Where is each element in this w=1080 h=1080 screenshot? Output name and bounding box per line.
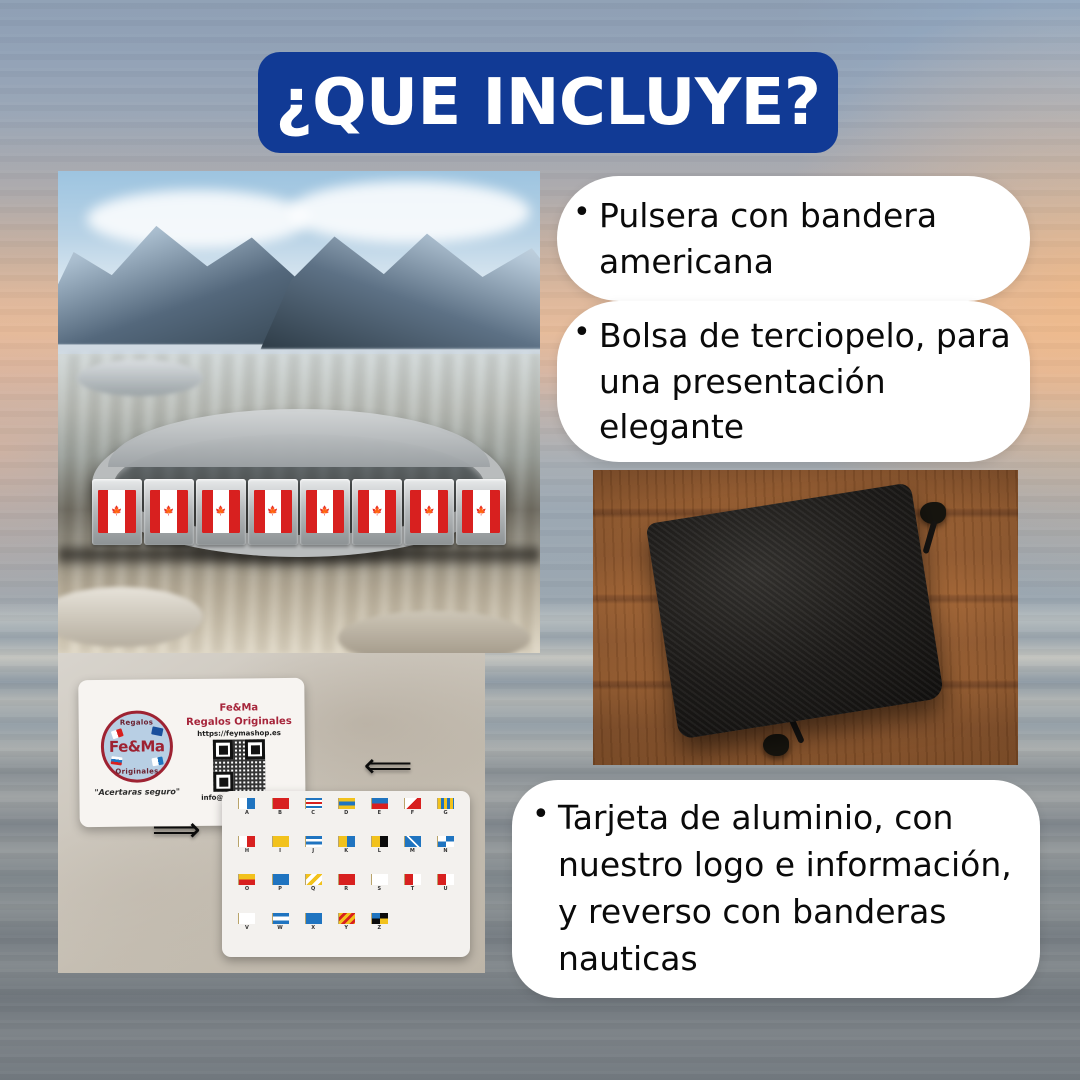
nautical-flag-cell: E xyxy=(364,798,395,835)
nautical-flag-cell: R xyxy=(331,874,362,911)
nautical-flag-letter: K xyxy=(344,848,348,854)
nautical-flag-cell: Y xyxy=(331,913,362,950)
nautical-flag-k-icon xyxy=(338,836,355,847)
bracelet-link: 🍁 xyxy=(300,479,350,546)
nautical-flag-letter: Q xyxy=(311,886,315,892)
canada-flag-tile: 🍁 xyxy=(98,490,136,533)
nautical-flag-letter: J xyxy=(312,848,314,854)
nautical-flag-g-icon xyxy=(437,798,454,809)
nautical-flag-cell: Q xyxy=(298,874,329,911)
nautical-flag-letter: Z xyxy=(378,925,382,931)
bracelet-link: 🍁 xyxy=(92,479,142,546)
nautical-flag-letter: V xyxy=(245,925,249,931)
nautical-flag-d-icon xyxy=(338,798,355,809)
nautical-flag-cell: I xyxy=(265,836,296,873)
nautical-flag-v-icon xyxy=(238,913,255,924)
drawstring-knot-bottom xyxy=(763,734,789,756)
feature-item: Bolsa de terciopelo, para una presentaci… xyxy=(599,313,1030,450)
nautical-flag-cell: V xyxy=(231,913,262,950)
nautical-flag-letter: W xyxy=(277,925,283,931)
canada-flag-tile: 🍁 xyxy=(254,490,292,533)
qr-code xyxy=(213,739,266,792)
nautical-flag-letter: P xyxy=(278,886,282,892)
nautical-flag-cell: G xyxy=(430,798,461,835)
bracelet-back-links xyxy=(108,409,489,467)
nautical-flag-letter: F xyxy=(411,810,414,816)
nautical-flag-cell: N xyxy=(430,836,461,873)
nautical-flag-s-icon xyxy=(371,874,388,885)
bracelet-link: 🍁 xyxy=(352,479,402,546)
bracelet-front-links: 🍁 🍁 🍁 🍁 🍁 🍁 🍁 🍁 xyxy=(92,479,507,546)
nautical-flag-letter: S xyxy=(378,886,382,892)
mountain-scene: 🍁 🍁 🍁 🍁 🍁 🍁 🍁 🍁 xyxy=(58,171,540,653)
feature-card-bracelet: Pulsera con bandera americana xyxy=(557,176,1030,301)
feature-card-bag: Bolsa de terciopelo, para una presentaci… xyxy=(557,301,1030,462)
page-title: ¿QUE INCLUYE? xyxy=(276,71,821,135)
logo-area: Regalos Fe&Ma Originales "Acertaras segu… xyxy=(89,687,185,818)
mini-flag-icon xyxy=(151,726,163,736)
nautical-flag-y-icon xyxy=(338,913,355,924)
maple-leaf-icon: 🍁 xyxy=(424,507,435,516)
aluminium-card-photo: Regalos Fe&Ma Originales "Acertaras segu… xyxy=(58,653,485,973)
feature-item: Tarjeta de aluminio, con nuestro logo e … xyxy=(558,795,1040,982)
page-title-banner: ¿QUE INCLUYE? xyxy=(258,52,838,153)
logo-bottom-text: Originales xyxy=(104,766,170,775)
bracelet-link: 🍁 xyxy=(404,479,454,546)
feature-card-aluminium-card: Tarjeta de aluminio, con nuestro logo e … xyxy=(512,780,1040,998)
nautical-flag-cell: O xyxy=(231,874,262,911)
canada-flag-tile: 🍁 xyxy=(462,490,500,533)
nautical-flag-letter: H xyxy=(245,848,249,854)
nautical-flag-t-icon xyxy=(404,874,421,885)
nautical-flag-letter: D xyxy=(344,810,348,816)
right-arrow-icon: ⟹ xyxy=(152,813,201,847)
bracelet-link: 🍁 xyxy=(144,479,194,546)
nautical-flag-i-icon xyxy=(272,836,289,847)
nautical-flag-letter: L xyxy=(378,848,381,854)
nautical-flag-letter: A xyxy=(245,810,249,816)
feature-list: Bolsa de terciopelo, para una presentaci… xyxy=(557,313,1030,450)
nautical-flag-cell: X xyxy=(298,913,329,950)
nautical-flag-cell: J xyxy=(298,836,329,873)
nautical-flag-q-icon xyxy=(305,874,322,885)
maple-leaf-icon: 🍁 xyxy=(163,507,174,516)
nautical-flag-letter: X xyxy=(311,925,315,931)
left-arrow-icon: ⟸ xyxy=(364,749,413,783)
mini-flag-icon xyxy=(152,756,164,766)
nautical-flag-r-icon xyxy=(338,874,355,885)
aluminium-card-photo-frame: Regalos Fe&Ma Originales "Acertaras segu… xyxy=(58,653,485,973)
canada-flag-tile: 🍁 xyxy=(150,490,188,533)
velvet-texture xyxy=(646,483,945,740)
velvet-bag-photo xyxy=(593,470,1018,765)
maple-leaf-icon: 🍁 xyxy=(371,507,382,516)
qr-finder-pattern xyxy=(214,771,234,791)
nautical-flag-cell: D xyxy=(331,798,362,835)
logo-center-text: Fe&Ma xyxy=(109,736,165,755)
bracelet-link: 🍁 xyxy=(456,479,506,546)
nautical-flag-cell: B xyxy=(265,798,296,835)
steel-bracelet: 🍁 🍁 🍁 🍁 🍁 🍁 🍁 🍁 xyxy=(92,412,507,557)
nautical-flag-letter: U xyxy=(443,886,447,892)
canada-flag-tile: 🍁 xyxy=(410,490,448,533)
nautical-flag-cell: W xyxy=(265,913,296,950)
nautical-flag-cell: K xyxy=(331,836,362,873)
maple-leaf-icon: 🍁 xyxy=(319,507,330,516)
nautical-flag-letter: T xyxy=(411,886,414,892)
qr-finder-pattern xyxy=(245,739,265,759)
logo-top-text: Regalos xyxy=(104,717,170,726)
nautical-flag-h-icon xyxy=(238,836,255,847)
rock xyxy=(77,360,202,396)
nautical-flag-letter: R xyxy=(344,886,348,892)
nautical-flag-letter: M xyxy=(410,848,415,854)
nautical-flag-w-icon xyxy=(272,913,289,924)
feature-item: Pulsera con bandera americana xyxy=(599,193,1030,284)
nautical-flag-e-icon xyxy=(371,798,388,809)
nautical-flag-o-icon xyxy=(238,874,255,885)
canada-flag-tile: 🍁 xyxy=(358,490,396,533)
nautical-flag-n-icon xyxy=(437,836,454,847)
nautical-flag-card-back: ABCDEFGHIJKLMNOPQRSTUVWXYZ xyxy=(222,791,470,957)
velvet-pouch xyxy=(646,483,945,740)
nautical-flag-f-icon xyxy=(404,798,421,809)
cloud xyxy=(87,190,309,248)
nautical-flag-letter: O xyxy=(245,886,249,892)
nautical-flag-letter: E xyxy=(378,810,381,816)
mini-flag-icon xyxy=(111,755,123,764)
nautical-flag-u-icon xyxy=(437,874,454,885)
nautical-flag-x-icon xyxy=(305,913,322,924)
canada-flag-tile: 🍁 xyxy=(202,490,240,533)
maple-leaf-icon: 🍁 xyxy=(476,507,487,516)
nautical-flag-z-icon xyxy=(371,913,388,924)
nautical-flag-grid: ABCDEFGHIJKLMNOPQRSTUVWXYZ xyxy=(231,798,461,950)
nautical-flag-cell: Z xyxy=(364,913,395,950)
canada-flag-tile: 🍁 xyxy=(306,490,344,533)
nautical-flag-cell: P xyxy=(265,874,296,911)
bracelet-photo: 🍁 🍁 🍁 🍁 🍁 🍁 🍁 🍁 xyxy=(58,171,540,653)
nautical-flag-cell: T xyxy=(397,874,428,911)
nautical-flag-letter: C xyxy=(311,810,315,816)
maple-leaf-icon: 🍁 xyxy=(267,507,278,516)
nautical-flag-cell: C xyxy=(298,798,329,835)
femа-logo: Regalos Fe&Ma Originales xyxy=(101,709,174,782)
nautical-flag-cell: M xyxy=(397,836,428,873)
feature-list: Tarjeta de aluminio, con nuestro logo e … xyxy=(512,795,1040,982)
nautical-flag-j-icon xyxy=(305,836,322,847)
nautical-flag-cell: A xyxy=(231,798,262,835)
maple-leaf-icon: 🍁 xyxy=(215,507,226,516)
nautical-flag-letter: B xyxy=(278,810,282,816)
brand-subtitle: Regalos Originales xyxy=(186,715,292,728)
logo-tagline: "Acertaras seguro" xyxy=(95,786,181,796)
brand-name: Fe&Ma xyxy=(220,702,259,714)
bracelet-photo-frame: 🍁 🍁 🍁 🍁 🍁 🍁 🍁 🍁 xyxy=(58,171,540,653)
qr-finder-pattern xyxy=(213,739,233,759)
nautical-flag-letter: Y xyxy=(344,925,348,931)
nautical-flag-b-icon xyxy=(272,798,289,809)
nautical-flag-m-icon xyxy=(404,836,421,847)
nautical-flag-a-icon xyxy=(238,798,255,809)
feature-list: Pulsera con bandera americana xyxy=(557,193,1030,284)
nautical-flag-p-icon xyxy=(272,874,289,885)
nautical-flag-letter: N xyxy=(443,848,447,854)
nautical-flag-cell: S xyxy=(364,874,395,911)
nautical-flag-letter: I xyxy=(279,848,281,854)
velvet-bag-photo-frame xyxy=(593,470,1018,765)
nautical-flag-c-icon xyxy=(305,798,322,809)
cloud xyxy=(289,181,530,244)
nautical-flag-letter: G xyxy=(443,810,447,816)
maple-leaf-icon: 🍁 xyxy=(111,507,122,516)
nautical-flag-cell: L xyxy=(364,836,395,873)
nautical-flag-cell: H xyxy=(231,836,262,873)
nautical-flag-l-icon xyxy=(371,836,388,847)
bracelet-link: 🍁 xyxy=(196,479,246,546)
nautical-flag-cell: F xyxy=(397,798,428,835)
nautical-flag-cell: U xyxy=(430,874,461,911)
website-url: https://feymashop.es xyxy=(198,729,282,738)
bracelet-link: 🍁 xyxy=(248,479,298,546)
